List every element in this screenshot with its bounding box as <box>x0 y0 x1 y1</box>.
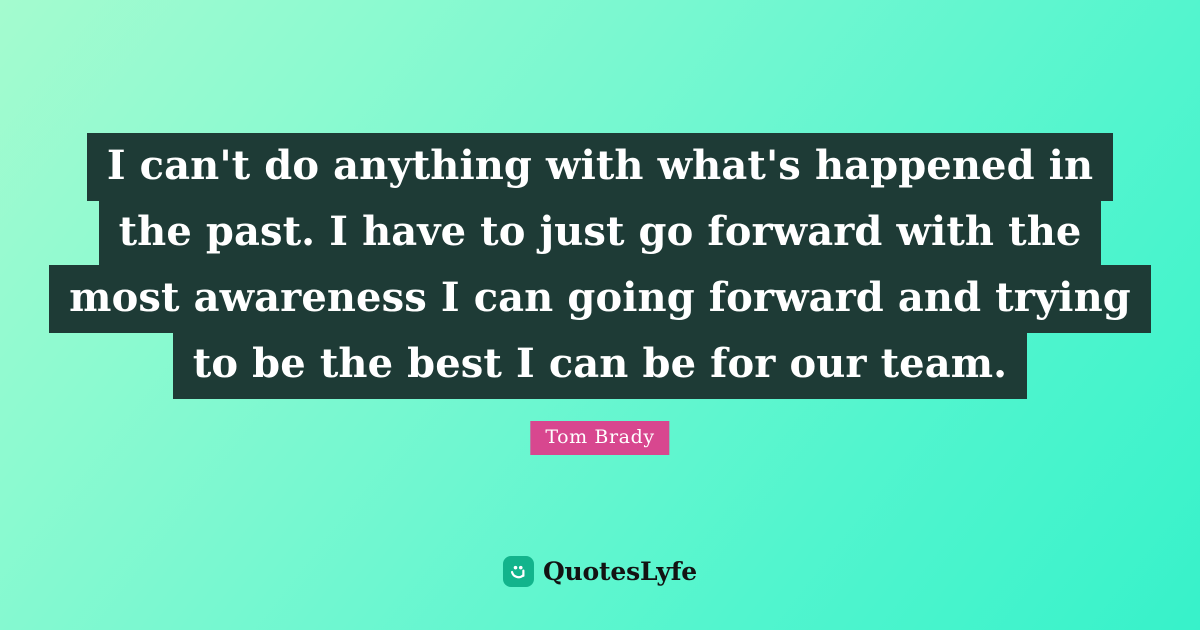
quote-line: to be the best I can be for our team. <box>173 331 1027 399</box>
brand-logo[interactable]: QuotesLyfe <box>503 556 697 587</box>
author-badge: Tom Brady <box>530 421 669 455</box>
quote-line: the past. I have to just go forward with… <box>99 199 1102 267</box>
quote-smile-icon <box>503 556 534 587</box>
quote-line: most awareness I can going forward and t… <box>49 265 1151 333</box>
quote-line: I can't do anything with what's happened… <box>87 133 1113 201</box>
quote-card: I can't do anything with what's happened… <box>0 0 1200 630</box>
quote-text-block: I can't do anything with what's happened… <box>0 133 1200 399</box>
brand-name: QuotesLyfe <box>543 559 697 584</box>
